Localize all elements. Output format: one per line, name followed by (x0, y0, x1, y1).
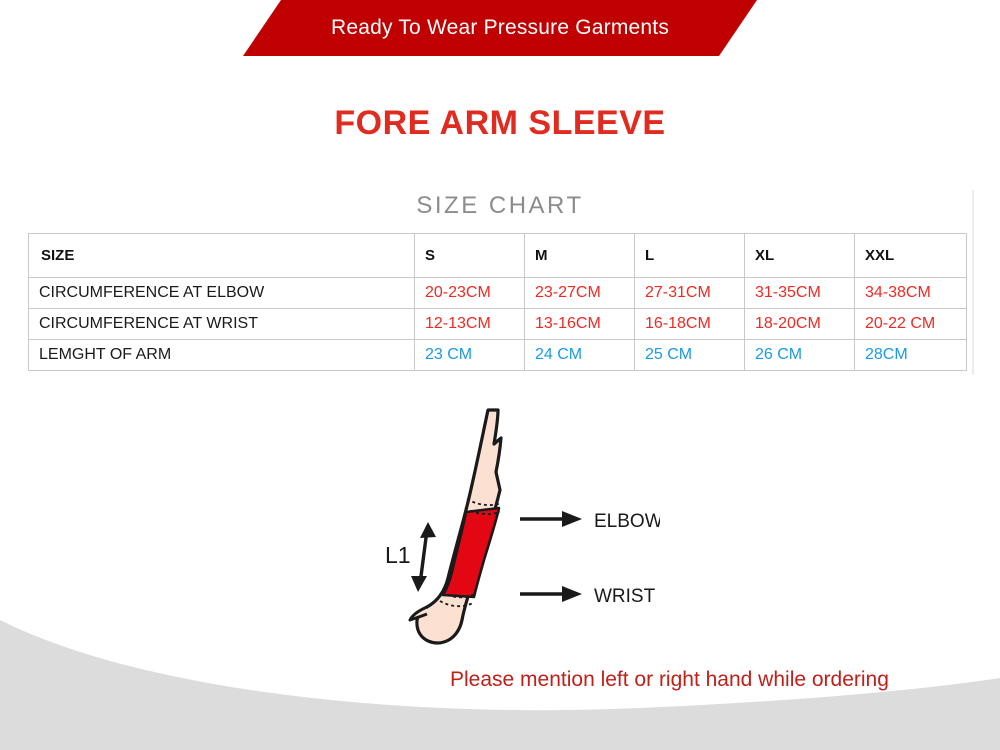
cell-length-xl: 26 CM (745, 340, 855, 371)
table-row: CIRCUMFERENCE AT WRIST 12-13CM 13-16CM 1… (29, 309, 967, 340)
l1-label: L1 (385, 542, 411, 568)
cell-length-l: 25 CM (635, 340, 745, 371)
cell-elbow-l: 27-31CM (635, 278, 745, 309)
top-banner: Ready To Wear Pressure Garments (0, 0, 1000, 58)
cell-length-s: 23 CM (415, 340, 525, 371)
l1-measurement-arrow: L1 (385, 522, 436, 592)
column-header-xxl: XXL (855, 234, 967, 278)
cell-length-xxl: 28CM (855, 340, 967, 371)
banner-text: Ready To Wear Pressure Garments (243, 0, 757, 56)
cell-elbow-xl: 31-35CM (745, 278, 855, 309)
table-row: CIRCUMFERENCE AT ELBOW 20-23CM 23-27CM 2… (29, 278, 967, 309)
elbow-callout: ELBOW (520, 511, 660, 532)
column-header-l: L (635, 234, 745, 278)
elbow-label: ELBOW (594, 511, 660, 532)
column-header-xl: XL (745, 234, 855, 278)
red-sleeve-shape (443, 508, 499, 597)
cell-wrist-m: 13-16CM (525, 309, 635, 340)
arm-illustration (410, 410, 501, 643)
elbow-arrow-head (562, 511, 582, 527)
column-header-m: M (525, 234, 635, 278)
cell-wrist-l: 16-18CM (635, 309, 745, 340)
row-label-elbow-circumference: CIRCUMFERENCE AT ELBOW (29, 278, 415, 309)
row-label-wrist-circumference: CIRCUMFERENCE AT WRIST (29, 309, 415, 340)
table-row: LEMGHT OF ARM 23 CM 24 CM 25 CM 26 CM 28… (29, 340, 967, 371)
wrist-callout: WRIST (520, 586, 656, 607)
cell-elbow-m: 23-27CM (525, 278, 635, 309)
size-table-container: SIZE S M L XL XXL CIRCUMFERENCE AT ELBOW… (28, 233, 966, 371)
size-chart-subtitle: SIZE CHART (0, 192, 1000, 220)
l1-arrow-head-up (420, 522, 436, 538)
cell-wrist-s: 12-13CM (415, 309, 525, 340)
row-label-arm-length: LEMGHT OF ARM (29, 340, 415, 371)
size-chart-page: Ready To Wear Pressure Garments FORE ARM… (0, 0, 1000, 750)
ordering-note: Please mention left or right hand while … (450, 668, 970, 692)
wrist-label: WRIST (594, 586, 656, 607)
l1-arrow-head-down (411, 576, 427, 592)
wrist-arrow-head (562, 586, 582, 602)
cell-length-m: 24 CM (525, 340, 635, 371)
page-title: FORE ARM SLEEVE (0, 104, 1000, 143)
table-header-row: SIZE S M L XL XXL (29, 234, 967, 278)
cell-elbow-xxl: 34-38CM (855, 278, 967, 309)
cell-wrist-xxl: 20-22 CM (855, 309, 967, 340)
l1-arrow-line (420, 530, 427, 584)
column-header-size: SIZE (29, 234, 415, 278)
forearm-sleeve-diagram: L1 ELBOW WRIST (370, 398, 660, 650)
column-header-s: S (415, 234, 525, 278)
cell-elbow-s: 20-23CM (415, 278, 525, 309)
cell-wrist-xl: 18-20CM (745, 309, 855, 340)
size-table: SIZE S M L XL XXL CIRCUMFERENCE AT ELBOW… (28, 233, 967, 371)
